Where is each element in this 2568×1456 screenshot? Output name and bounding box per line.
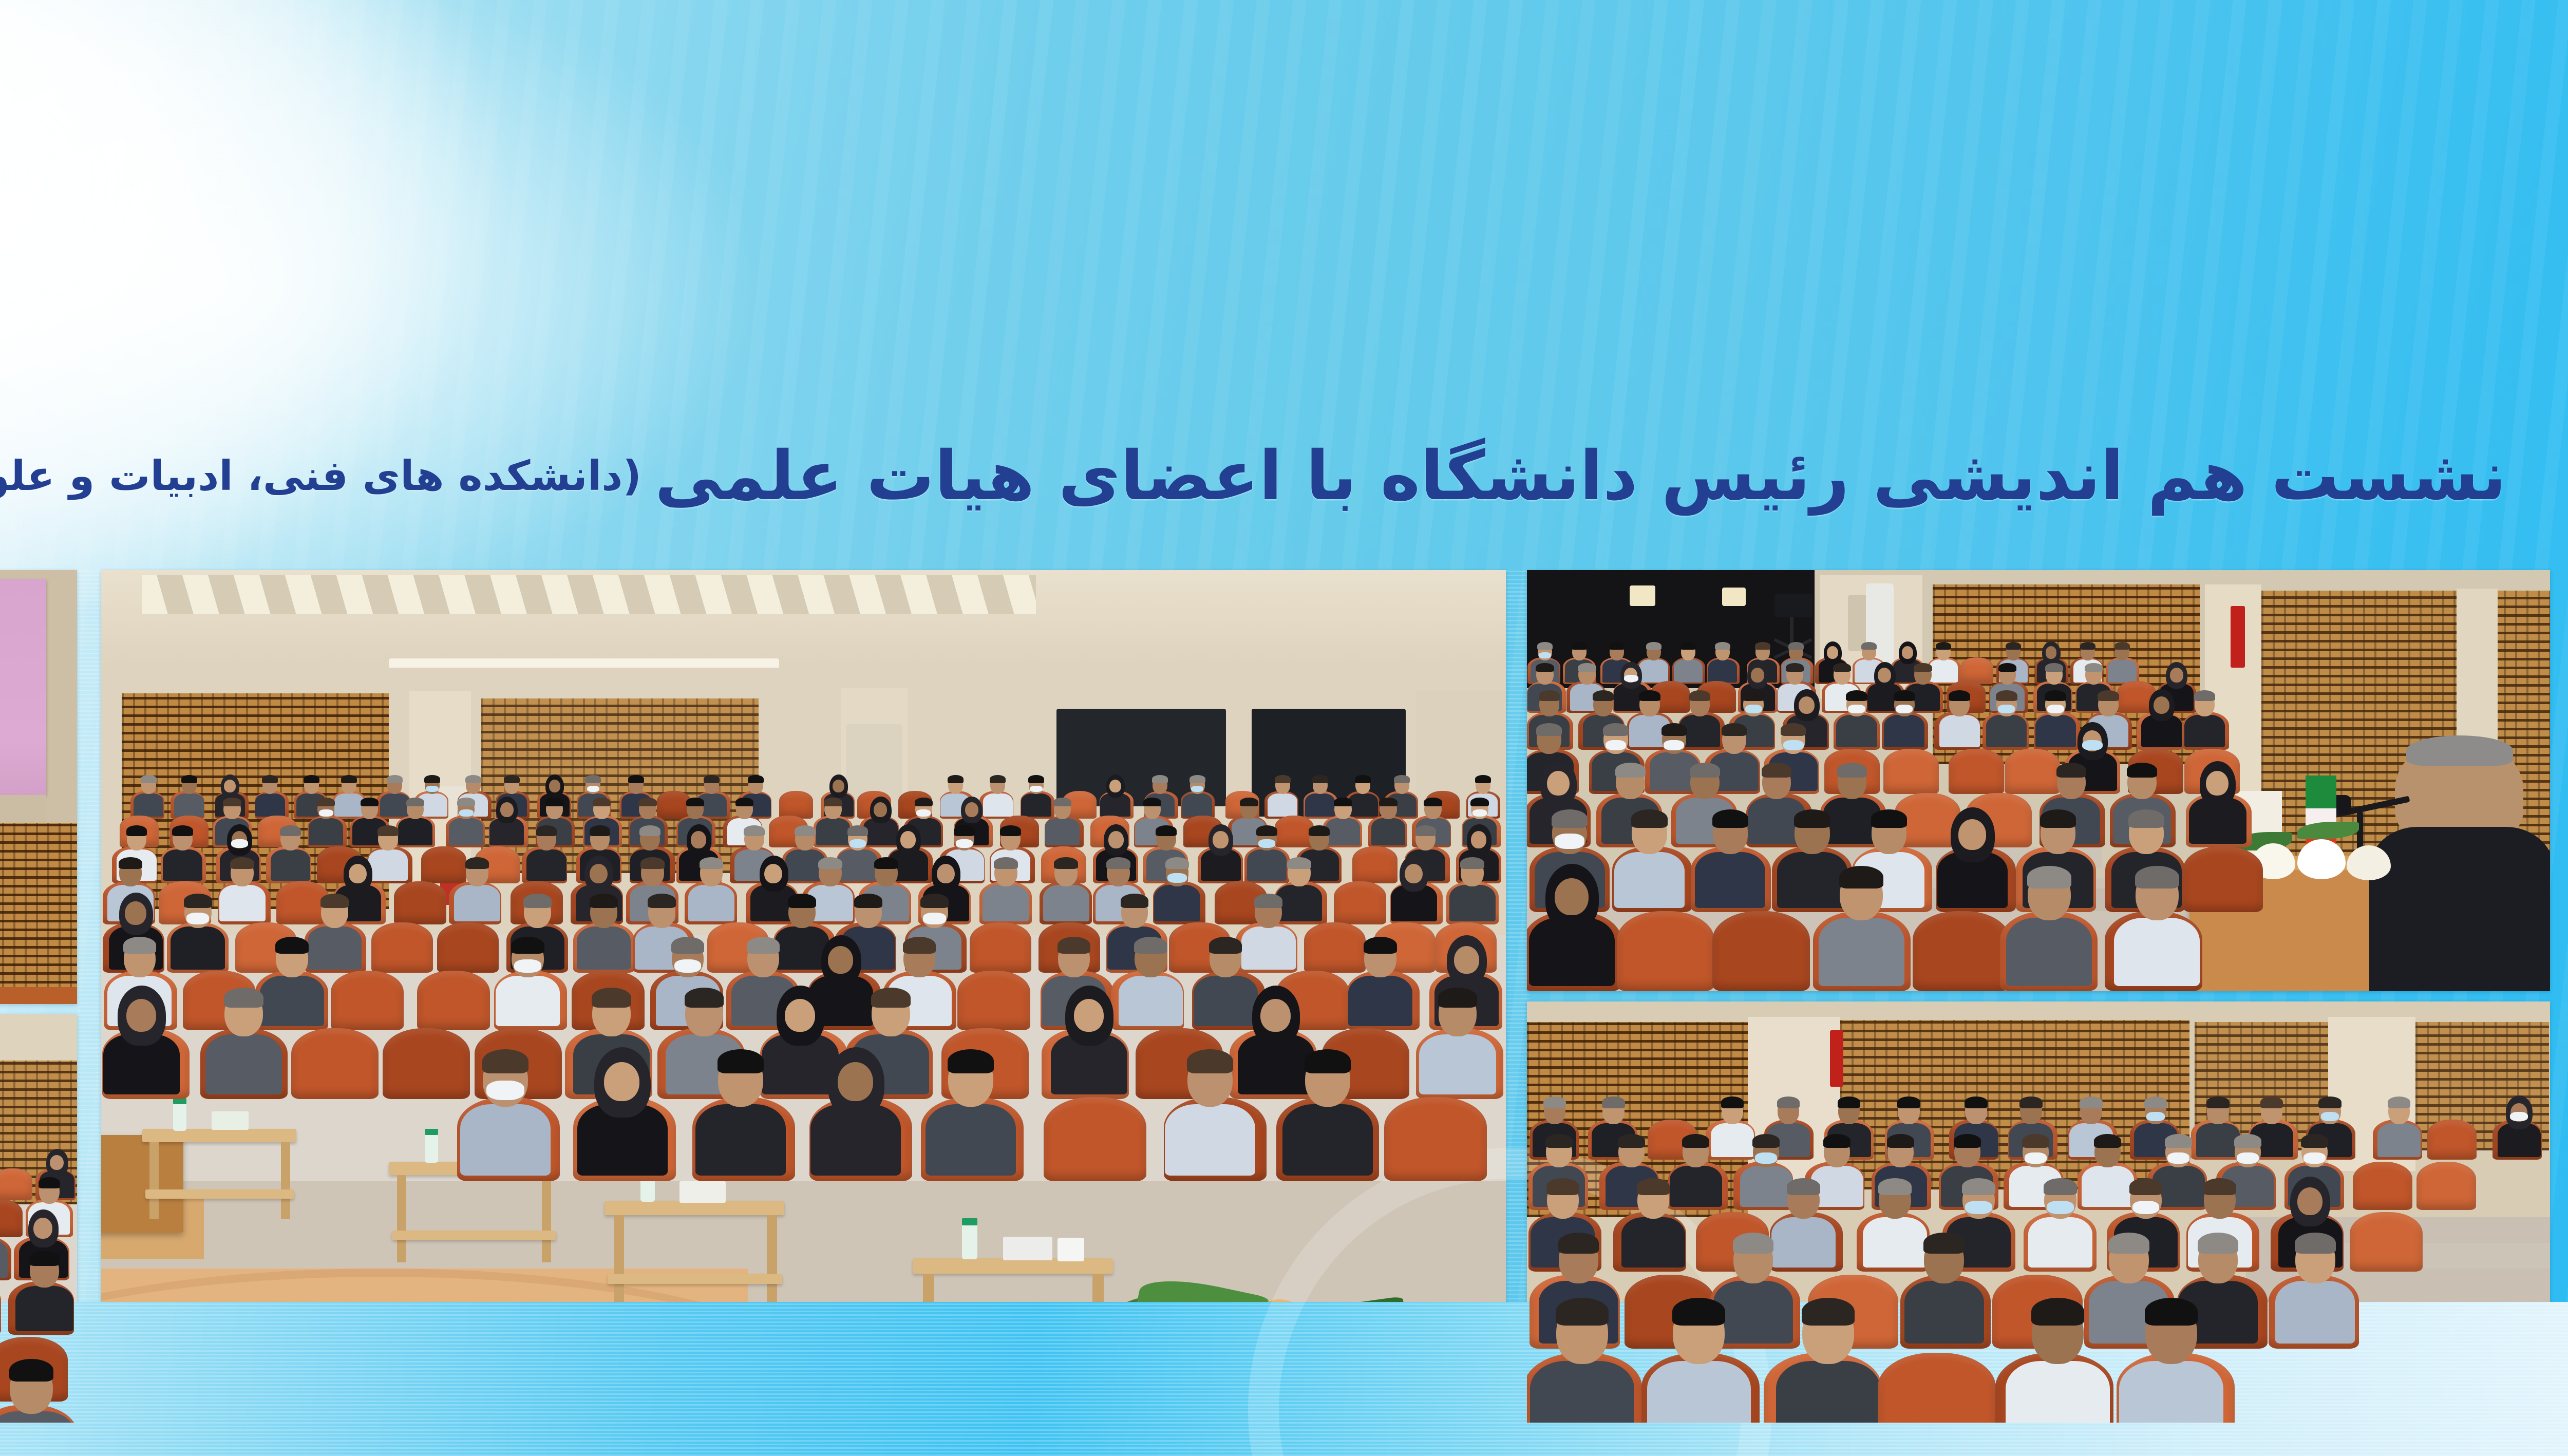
banner-header: روابط عمومی دانشگاه گیلان نشست هم اندیشی… [0,0,2568,555]
gallery-column-right [1527,570,2550,1423]
event-banner: روابط عمومی دانشگاه گیلان نشست هم اندیشی… [0,0,2568,1456]
photo-podium-view[interactable] [1527,570,2550,991]
photo-speaker-podium[interactable] [0,570,77,1004]
page-title: نشست هم اندیشی رئیس دانشگاه با اعضای هیا… [655,442,2506,510]
banner-title-block: نشست هم اندیشی رئیس دانشگاه با اعضای هیا… [0,417,2506,535]
column-gap-left [78,570,101,1423]
gallery-column-left [0,570,77,1423]
photo-audience-side[interactable] [0,1014,77,1423]
page-subtitle: (دانشکده های فنی، ادبیات و علوم انسانی، … [0,456,641,497]
